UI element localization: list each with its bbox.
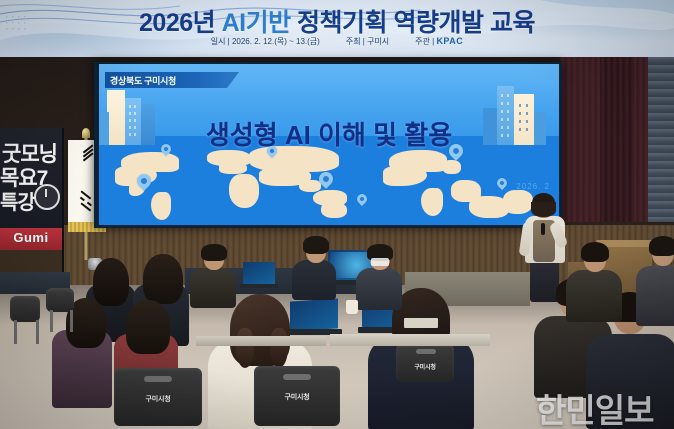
banner-host: 주최 | 구미시 [346, 37, 389, 46]
paper-document [404, 318, 438, 328]
laptop-screen [290, 298, 338, 331]
banner-organizer-name: KPAC [436, 36, 463, 46]
slide-badge-text: 경상북도 구미시청 [110, 74, 230, 87]
desk-surface [330, 334, 490, 346]
flag-finial [82, 128, 90, 138]
chair-label: 구미시청 [114, 394, 202, 404]
gumi-standing-banner: 굿모닝 목요7 특강 Gumi [0, 128, 64, 273]
trigram-mark [80, 197, 85, 201]
banner-title: 2026년 AI기반 정책기획 역량개발 교육 [0, 3, 674, 39]
chair-with-label: 구미시청 [254, 366, 340, 426]
paper-cup [346, 300, 358, 314]
presenter-hair-side [531, 202, 556, 217]
laptop-base [240, 284, 278, 288]
banner-date: 일시 | 2026. 2. 12.(목) ~ 13.(금) [211, 37, 320, 46]
banner-subtitle: 일시 | 2026. 2. 12.(목) ~ 13.(금)주최 | 구미시주관 … [0, 36, 674, 47]
banner-base [0, 250, 62, 273]
map-pin [355, 192, 369, 206]
slide-date-corner: 2026. 2 [480, 182, 550, 191]
banner-line-3: 특강 [0, 186, 40, 215]
event-banner: 2026년 AI기반 정책기획 역량개발 교육 일시 | 2026. 2. 12… [0, 0, 674, 57]
gumi-brand-text: Gumi [0, 230, 62, 245]
chair-label: 구미시청 [396, 362, 454, 371]
empty-chair [10, 296, 40, 322]
slide-title: 생성형 AI 이해 및 활용 [99, 115, 559, 152]
banner-title-highlight: AI기반 [222, 9, 291, 37]
desk-surface [196, 336, 326, 346]
presenter-legs [530, 260, 559, 302]
watermark: 한민일보 [536, 384, 668, 429]
microphone [541, 223, 545, 235]
chair-with-label: 구미시청 [114, 368, 202, 426]
chair-label: 구미시청 [254, 392, 340, 402]
face-mask [371, 258, 389, 266]
banner-title-part1: 2026년 [139, 9, 222, 37]
empty-chair [46, 288, 74, 312]
banner-title-part2: 정책기획 역량개발 교육 [291, 9, 535, 37]
photograph-scene: 2026년 AI기반 정책기획 역량개발 교육 일시 | 2026. 2. 12… [0, 0, 674, 429]
banner-organizer-label: 주관 | [415, 37, 434, 46]
trigram-mark [87, 202, 92, 206]
laptop-screen [243, 262, 275, 284]
chair-with-label: 구미시청 [396, 344, 454, 382]
